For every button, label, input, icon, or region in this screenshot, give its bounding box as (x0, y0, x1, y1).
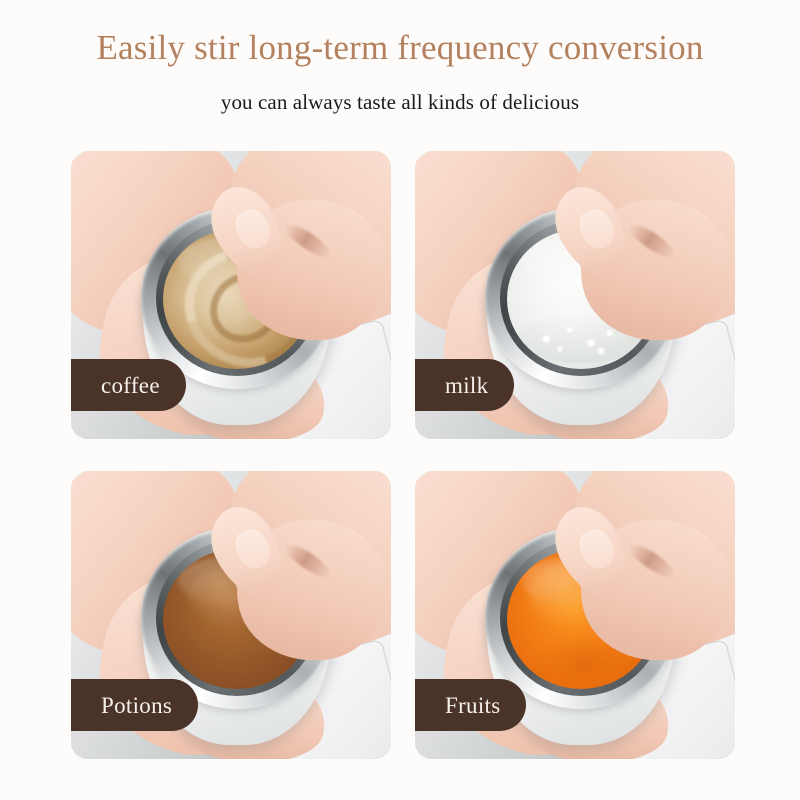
caption-label: Fruits (445, 694, 500, 717)
product-banner: Easily stir long-term frequency conversi… (0, 0, 800, 800)
caption-badge-fruits: Fruits (415, 679, 526, 731)
gallery-cell-coffee[interactable]: coffee (71, 151, 391, 439)
page-title: Easily stir long-term frequency conversi… (0, 28, 800, 67)
gallery-cell-potions[interactable]: Potions (71, 471, 391, 759)
caption-badge-potions: Potions (71, 679, 198, 731)
page-subtitle: you can always taste all kinds of delici… (0, 90, 800, 115)
photo-gallery-grid: coffee (71, 151, 735, 776)
caption-label: Potions (101, 694, 172, 717)
caption-badge-milk: milk (415, 359, 514, 411)
gallery-cell-fruits[interactable]: Fruits (415, 471, 735, 759)
caption-badge-coffee: coffee (71, 359, 186, 411)
caption-label: coffee (101, 374, 160, 397)
gallery-cell-milk[interactable]: milk (415, 151, 735, 439)
banner-header: Easily stir long-term frequency conversi… (0, 0, 800, 115)
caption-label: milk (445, 374, 488, 397)
